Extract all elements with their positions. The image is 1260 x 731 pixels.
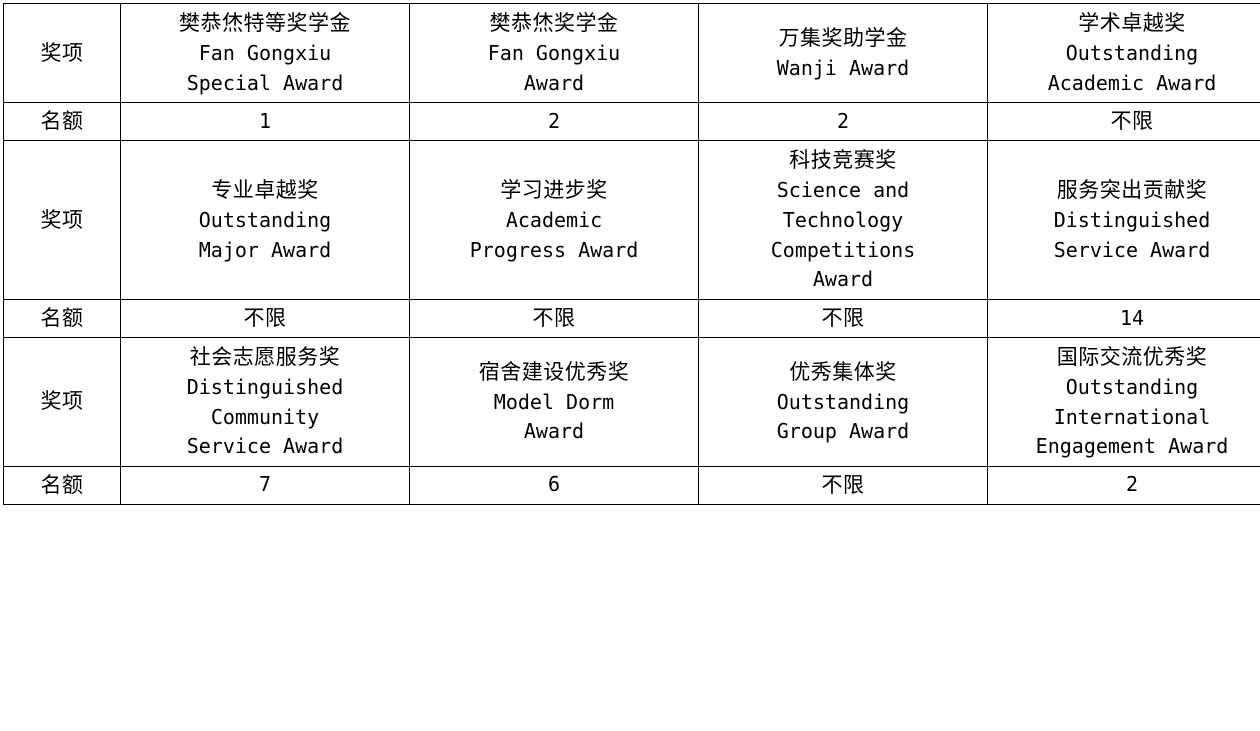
- award-name-en-line: Award: [412, 69, 696, 99]
- award-cell: 万集奖助学金 Wanji Award: [699, 4, 988, 103]
- award-name-en-line: Technology: [701, 206, 985, 236]
- row-label-award: 奖项: [4, 141, 121, 299]
- award-name-cn: 科技竞赛奖: [701, 145, 985, 176]
- award-name-en-line: Group Award: [701, 417, 985, 447]
- count-value: 14: [990, 304, 1260, 334]
- count-value: 不限: [701, 303, 985, 334]
- document-page: 奖项 樊恭烋特等奖学金 Fan Gongxiu Special Award 樊恭…: [0, 3, 1260, 731]
- award-name-en-line: Award: [701, 265, 985, 295]
- award-name-en-line: Service Award: [990, 236, 1260, 266]
- award-name-en-line: Service Award: [123, 432, 407, 462]
- award-cell: 学习进步奖 Academic Progress Award: [410, 141, 699, 299]
- count-value: 不限: [990, 106, 1260, 137]
- award-name-cn: 学习进步奖: [412, 175, 696, 206]
- award-name-en-line: Award: [412, 417, 696, 447]
- row-label-award: 奖项: [4, 4, 121, 103]
- count-cell: 1: [121, 103, 410, 141]
- award-name-cn: 学术卓越奖: [990, 8, 1260, 39]
- count-value: 不限: [701, 470, 985, 501]
- count-cell: 6: [410, 466, 699, 504]
- award-name-en-line: Wanji Award: [701, 54, 985, 84]
- count-cell: 2: [988, 466, 1260, 504]
- award-name-en-line: Distinguished: [123, 373, 407, 403]
- award-name-cn: 宿舍建设优秀奖: [412, 357, 696, 388]
- award-name-en-line: Fan Gongxiu: [412, 39, 696, 69]
- award-name-en-line: Engagement Award: [990, 432, 1260, 462]
- count-cell: 不限: [699, 299, 988, 337]
- row-label-award: 奖项: [4, 337, 121, 466]
- award-name-en-line: Progress Award: [412, 236, 696, 266]
- count-cell: 不限: [699, 466, 988, 504]
- award-table: 奖项 樊恭烋特等奖学金 Fan Gongxiu Special Award 樊恭…: [3, 3, 1260, 505]
- award-name-cn: 万集奖助学金: [701, 23, 985, 54]
- award-name-cn: 专业卓越奖: [123, 175, 407, 206]
- table-row-count: 名额 1 2 2 不限: [4, 103, 1260, 141]
- count-cell: 不限: [121, 299, 410, 337]
- award-name-en-line: Outstanding: [990, 39, 1260, 69]
- award-cell: 科技竞赛奖 Science and Technology Competition…: [699, 141, 988, 299]
- award-name-en-line: Competitions: [701, 236, 985, 266]
- count-value: 不限: [123, 303, 407, 334]
- award-name-cn: 服务突出贡献奖: [990, 175, 1260, 206]
- count-cell: 2: [699, 103, 988, 141]
- row-label-count: 名额: [4, 299, 121, 337]
- award-name-en-line: Special Award: [123, 69, 407, 99]
- award-name-en-line: Community: [123, 403, 407, 433]
- count-cell: 2: [410, 103, 699, 141]
- award-name-en-line: Model Dorm: [412, 388, 696, 418]
- award-cell: 宿舍建设优秀奖 Model Dorm Award: [410, 337, 699, 466]
- award-name-en-line: Major Award: [123, 236, 407, 266]
- award-name-cn: 国际交流优秀奖: [990, 342, 1260, 373]
- table-row-count: 名额 不限 不限 不限 14: [4, 299, 1260, 337]
- award-name-en-line: Outstanding: [990, 373, 1260, 403]
- award-name-en-line: Distinguished: [990, 206, 1260, 236]
- count-value: 2: [701, 107, 985, 137]
- row-label-count: 名额: [4, 103, 121, 141]
- award-cell: 樊恭烋奖学金 Fan Gongxiu Award: [410, 4, 699, 103]
- award-name-en-line: Science and: [701, 176, 985, 206]
- count-value: 1: [123, 107, 407, 137]
- award-table-body: 奖项 樊恭烋特等奖学金 Fan Gongxiu Special Award 樊恭…: [4, 4, 1260, 505]
- count-value: 不限: [412, 303, 696, 334]
- award-name-en-line: International: [990, 403, 1260, 433]
- table-row-award: 奖项 专业卓越奖 Outstanding Major Award 学习进步奖 A…: [4, 141, 1260, 299]
- award-name-en-line: Academic Award: [990, 69, 1260, 99]
- count-cell: 不限: [988, 103, 1260, 141]
- count-value: 2: [412, 107, 696, 137]
- award-name-en-line: Fan Gongxiu: [123, 39, 407, 69]
- count-value: 6: [412, 470, 696, 500]
- award-cell: 专业卓越奖 Outstanding Major Award: [121, 141, 410, 299]
- table-row-award: 奖项 樊恭烋特等奖学金 Fan Gongxiu Special Award 樊恭…: [4, 4, 1260, 103]
- award-name-cn: 樊恭烋特等奖学金: [123, 8, 407, 39]
- award-name-en-line: Academic: [412, 206, 696, 236]
- award-cell: 社会志愿服务奖 Distinguished Community Service …: [121, 337, 410, 466]
- award-cell: 服务突出贡献奖 Distinguished Service Award: [988, 141, 1260, 299]
- award-name-en-line: Outstanding: [701, 388, 985, 418]
- award-name-cn: 优秀集体奖: [701, 357, 985, 388]
- table-row-award: 奖项 社会志愿服务奖 Distinguished Community Servi…: [4, 337, 1260, 466]
- count-cell: 14: [988, 299, 1260, 337]
- count-cell: 7: [121, 466, 410, 504]
- award-cell: 优秀集体奖 Outstanding Group Award: [699, 337, 988, 466]
- award-cell: 国际交流优秀奖 Outstanding International Engage…: [988, 337, 1260, 466]
- count-value: 7: [123, 470, 407, 500]
- award-name-cn: 社会志愿服务奖: [123, 342, 407, 373]
- award-cell: 学术卓越奖 Outstanding Academic Award: [988, 4, 1260, 103]
- award-name-en-line: Outstanding: [123, 206, 407, 236]
- count-cell: 不限: [410, 299, 699, 337]
- count-value: 2: [990, 470, 1260, 500]
- table-row-count: 名额 7 6 不限 2: [4, 466, 1260, 504]
- award-name-cn: 樊恭烋奖学金: [412, 8, 696, 39]
- award-cell: 樊恭烋特等奖学金 Fan Gongxiu Special Award: [121, 4, 410, 103]
- row-label-count: 名额: [4, 466, 121, 504]
